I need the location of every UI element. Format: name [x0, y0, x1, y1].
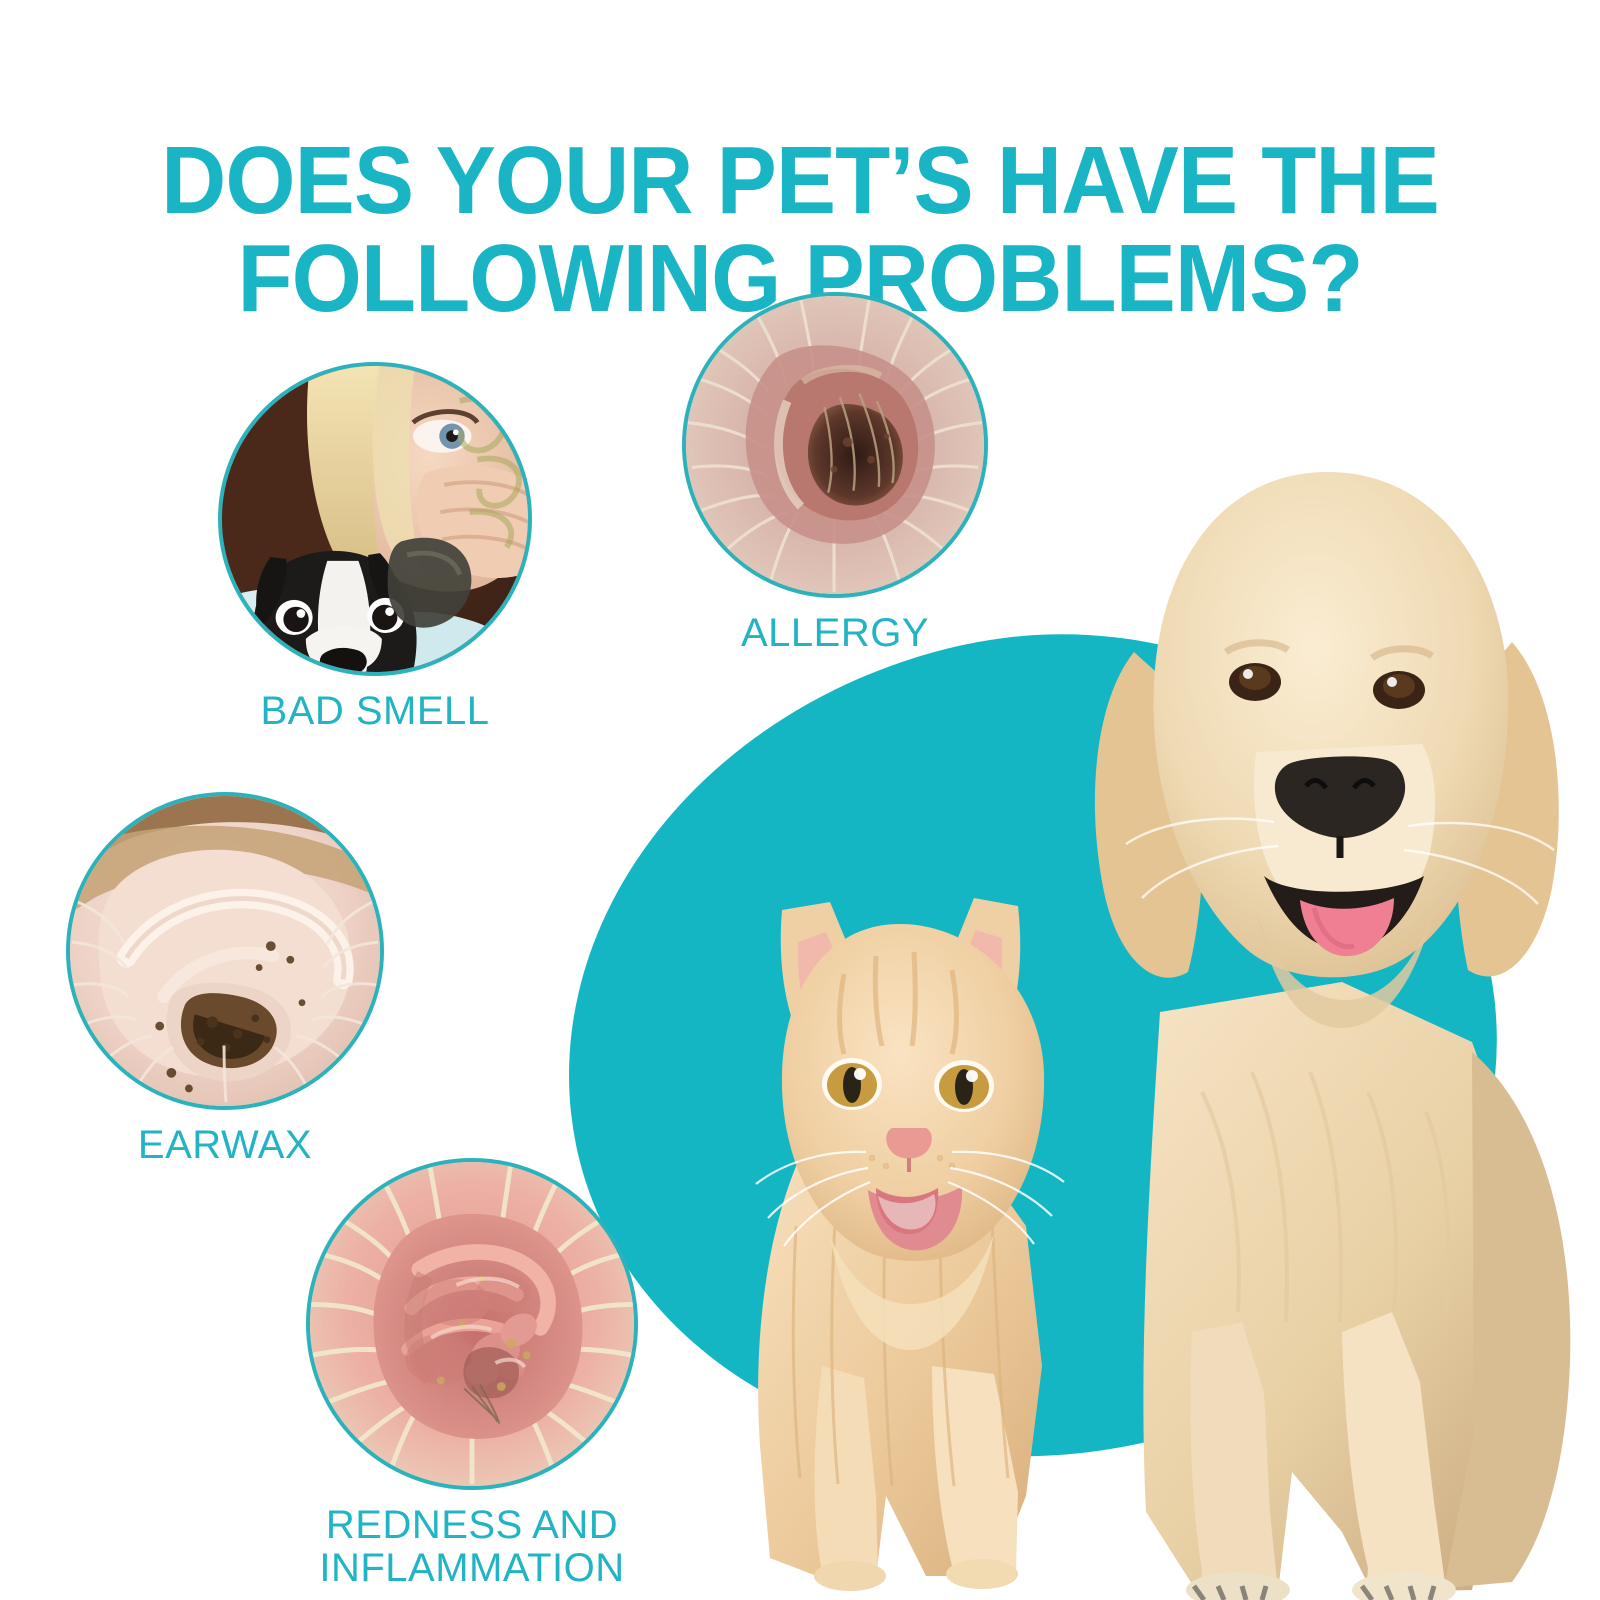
- orange-kitten-photo: [726, 806, 1096, 1600]
- badge-label-allergy: ALLERGY: [682, 612, 988, 655]
- poster-canvas: DOES YOUR PET’S HAVE THE FOLLOWING PROBL…: [0, 0, 1600, 1600]
- badge-label-bad-smell: BAD SMELL: [218, 690, 532, 733]
- badge-allergy[interactable]: ALLERGY: [682, 292, 988, 655]
- badge-redness-and-inflammation[interactable]: REDNESS AND INFLAMMATION: [306, 1158, 638, 1590]
- page-title-line-1: DOES YOUR PET’S HAVE THE: [161, 127, 1439, 234]
- badge-earwax[interactable]: EARWAX: [66, 792, 384, 1167]
- golden-retriever-photo: [1042, 352, 1600, 1600]
- woman-pinching-nose-with-boston-terrier-photo: [218, 362, 532, 676]
- red-swollen-pet-ear-photo: [306, 1158, 638, 1490]
- inflamed-pet-ear-canal-photo: [682, 292, 988, 598]
- pet-ear-with-dark-wax-photo: [66, 792, 384, 1110]
- badge-label-redness-and-inflammation: REDNESS AND INFLAMMATION: [306, 1504, 638, 1590]
- badge-bad-smell[interactable]: BAD SMELL: [218, 362, 532, 733]
